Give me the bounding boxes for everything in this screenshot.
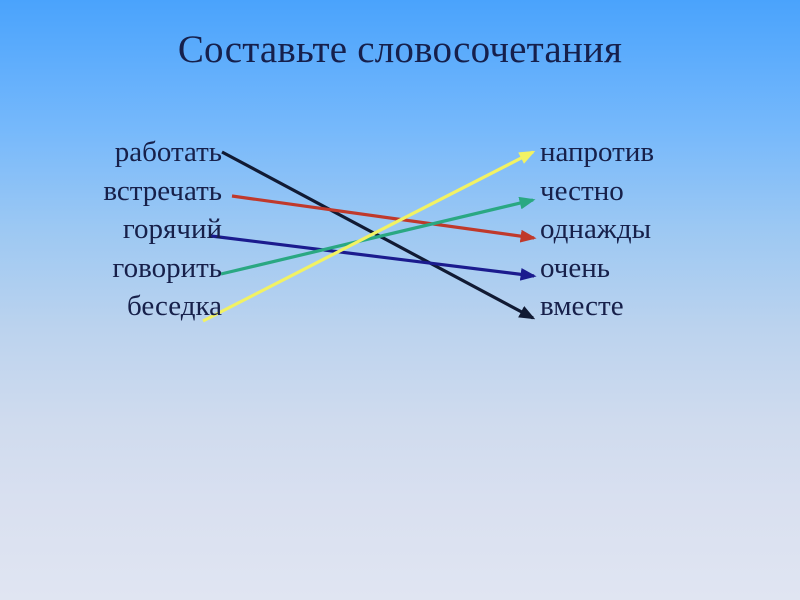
slide-canvas: Составьте словосочетания работать встреч… bbox=[0, 0, 800, 600]
left-word-5[interactable]: беседка bbox=[0, 287, 222, 326]
connector-rabotat-vmeste bbox=[222, 152, 533, 318]
right-word-4[interactable]: очень bbox=[540, 249, 790, 288]
left-word-4[interactable]: говорить bbox=[0, 249, 222, 288]
right-word-column: напротив честно однажды очень вместе bbox=[540, 133, 790, 326]
connector-vstrechat-odnazhdy bbox=[232, 196, 534, 238]
right-word-2[interactable]: честно bbox=[540, 172, 790, 211]
left-word-2[interactable]: встречать bbox=[0, 172, 222, 211]
right-word-5[interactable]: вместе bbox=[540, 287, 790, 326]
left-word-1[interactable]: работать bbox=[0, 133, 222, 172]
right-word-3[interactable]: однажды bbox=[540, 210, 790, 249]
connector-govorit-chestno bbox=[221, 200, 533, 274]
connector-besedka-naprotiv bbox=[203, 152, 533, 321]
left-word-column: работать встречать горячий говорить бесе… bbox=[0, 133, 222, 326]
connector-goryachiy-ochen bbox=[211, 236, 534, 276]
right-word-1[interactable]: напротив bbox=[540, 133, 790, 172]
left-word-3[interactable]: горячий bbox=[0, 210, 222, 249]
page-title: Составьте словосочетания bbox=[0, 26, 800, 74]
